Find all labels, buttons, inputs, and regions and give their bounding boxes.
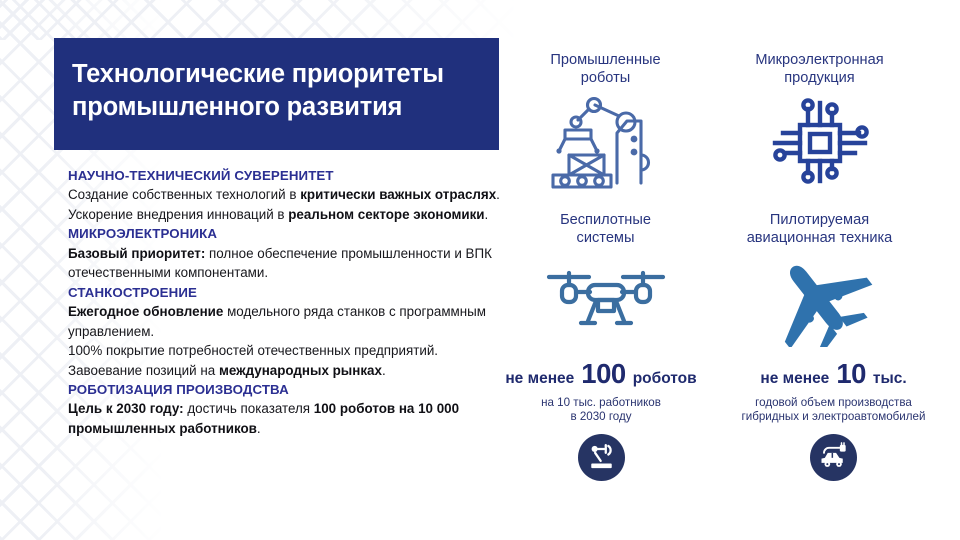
- stat-suffix: роботов: [633, 370, 697, 388]
- body-text: .: [485, 207, 489, 222]
- section-paragraph: Цель к 2030 году: достичь показателя 100…: [68, 399, 508, 438]
- stat-value: 100: [581, 358, 625, 390]
- emphasis-text: реальном секторе экономики: [288, 207, 484, 222]
- card-caption: Промышленные роботы: [508, 52, 703, 87]
- emphasis-text: критически важных отраслях: [300, 187, 496, 202]
- emphasis-text: международных рынках: [219, 363, 382, 378]
- body-text: Завоевание позиций на: [68, 363, 219, 378]
- microchip-icon: [712, 95, 927, 187]
- stat-note: на 10 тыс. работников в 2030 году: [486, 396, 716, 425]
- section-paragraph: Ежегодное обновление модельного ряда ста…: [68, 302, 508, 341]
- stat-headline: не менее 100 роботов: [486, 358, 716, 390]
- industrial-robot-icon: [508, 97, 703, 189]
- card-caption: Беспилотные системы: [508, 212, 703, 247]
- section-heading: СТАНКОСТРОЕНИЕ: [68, 283, 508, 302]
- emphasis-text: Цель к 2030 году:: [68, 401, 184, 416]
- stat-headline: не менее 10 тыс.: [716, 358, 951, 390]
- section-paragraph: Завоевание позиций на международных рынк…: [68, 361, 508, 381]
- section-paragraph: 100% покрытие потребностей отечественных…: [68, 341, 508, 361]
- section-heading: НАУЧНО-ТЕХНИЧЕСКИЙ СУВЕРЕНИТЕТ: [68, 166, 508, 185]
- card-manned-aviation: Пилотируемая авиационная техника: [712, 212, 927, 347]
- body-text: Ускорение внедрения инноваций в: [68, 207, 288, 222]
- electric-car-badge-icon: [810, 434, 857, 481]
- section-paragraph: Базовый приоритет: полное обеспечение пр…: [68, 244, 508, 283]
- stat-prefix: не менее: [760, 370, 829, 388]
- emphasis-text: Базовый приоритет:: [68, 246, 205, 261]
- section-heading: РОБОТИЗАЦИЯ ПРОИЗВОДСТВА: [68, 380, 508, 399]
- title-banner: Технологические приоритеты промышленного…: [54, 38, 499, 150]
- stat-electric-cars-output: не менее 10 тыс. годовой объем производс…: [716, 358, 951, 481]
- stat-note: годовой объем производства гибридных и э…: [716, 396, 951, 425]
- body-text: .: [496, 187, 500, 202]
- page-title: Технологические приоритеты промышленного…: [72, 58, 485, 124]
- card-unmanned-systems: Беспилотные системы: [508, 212, 703, 339]
- emphasis-text: Ежегодное обновление: [68, 304, 223, 319]
- body-text: Создание собственных технологий в: [68, 187, 300, 202]
- body-text: достичь показателя: [184, 401, 314, 416]
- section-heading: МИКРОЭЛЕКТРОНИКА: [68, 224, 508, 243]
- section-paragraph: Создание собственных технологий в критич…: [68, 185, 508, 205]
- drone-icon: [508, 261, 703, 339]
- priorities-text-column: НАУЧНО-ТЕХНИЧЕСКИЙ СУВЕРЕНИТЕТСоздание с…: [68, 166, 508, 438]
- stat-suffix: тыс.: [873, 370, 907, 388]
- stat-robots-per-workers: не менее 100 роботов на 10 тыс. работник…: [486, 358, 716, 481]
- card-industrial-robots: Промышленные роботы: [508, 52, 703, 189]
- background-lattice-pattern-top: [0, 0, 520, 40]
- stat-prefix: не менее: [505, 370, 574, 388]
- card-microelectronics: Микроэлектронная продукция: [712, 52, 927, 187]
- card-caption: Микроэлектронная продукция: [712, 52, 927, 87]
- robot-arm-badge-icon: [578, 434, 625, 481]
- body-text: .: [257, 421, 261, 436]
- stat-value: 10: [836, 358, 866, 390]
- body-text: 100% покрытие потребностей отечественных…: [68, 343, 438, 358]
- body-text: .: [382, 363, 386, 378]
- airplane-icon: [712, 251, 927, 347]
- section-paragraph: Ускорение внедрения инноваций в реальном…: [68, 205, 508, 225]
- card-caption: Пилотируемая авиационная техника: [712, 212, 927, 247]
